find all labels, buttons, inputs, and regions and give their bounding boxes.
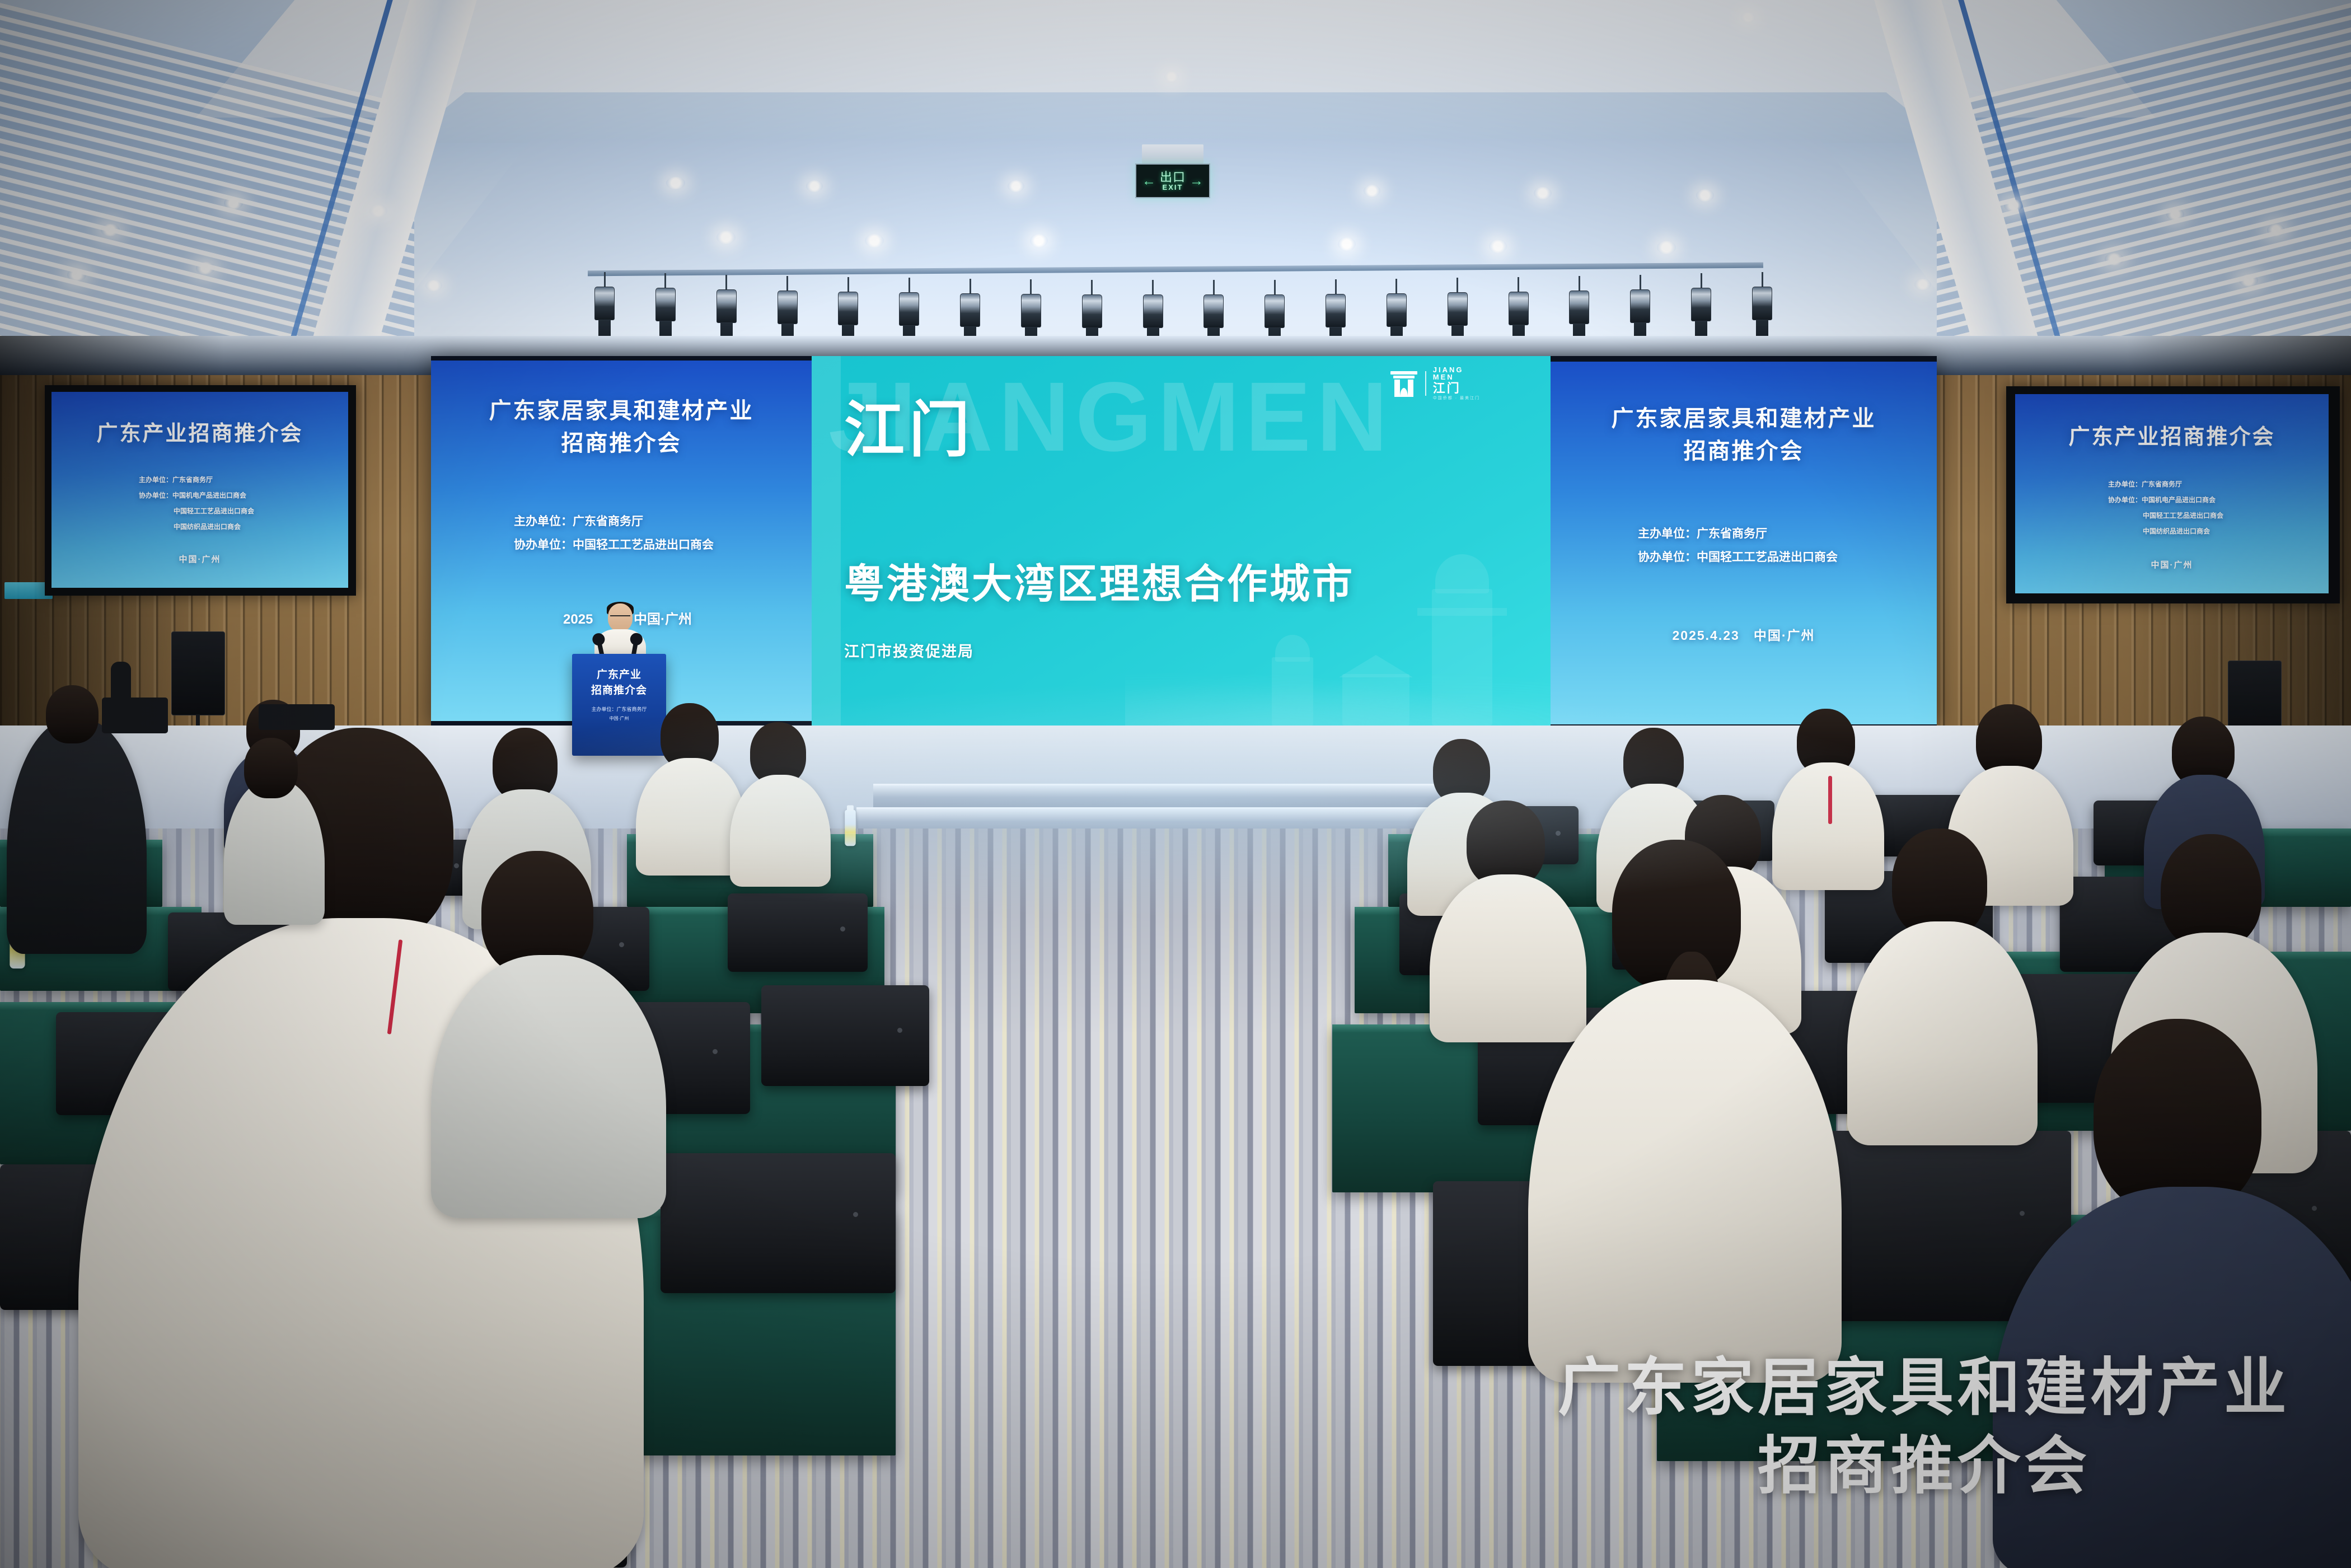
chair — [661, 1153, 896, 1293]
ceiling: ← 出口 EXIT → — [0, 0, 2351, 358]
far-right-location: 中国·广州 — [2015, 559, 2329, 570]
downlight — [666, 177, 685, 189]
downlight — [1741, 12, 1755, 22]
jiangmen-calligraphy: 江门 — [844, 400, 974, 460]
downlight — [1164, 72, 1179, 82]
center-panel-side-bar — [812, 356, 841, 726]
exit-sign-mount — [1142, 144, 1203, 163]
downlight — [67, 269, 86, 281]
downlight — [1534, 187, 1552, 199]
downlight — [1914, 279, 1931, 290]
watermark-caption: 广东家居家具和建材产业 招商推介会 — [1558, 1349, 2291, 1505]
watermark-line1: 广东家居家具和建材产业 — [1558, 1349, 2291, 1427]
main-left-coorg-label: 协办单位：中国轻工工艺品进出口商会 — [514, 536, 714, 555]
podium-line2: 招商推介会 — [572, 682, 666, 697]
podium: 广东产业 招商推介会 主办单位：广东省商务厅 中国·广州 — [572, 654, 666, 756]
far-right-screen-title: 广东产业招商推介会 — [2015, 424, 2329, 450]
far-left-coorg-3: 中国纺织品进出口商会 — [174, 522, 241, 532]
logo-divider — [1425, 371, 1426, 396]
main-right-date-location: 2025.4.23 中国·广州 — [1551, 625, 1937, 644]
main-left-date: 2025 — [563, 609, 593, 630]
ceiling-recess-band — [403, 92, 1948, 143]
main-right-coorg-label: 协办单位：中国轻工工艺品进出口商会 — [1638, 549, 1838, 567]
downlight — [1008, 180, 1024, 192]
smartphone — [259, 704, 335, 730]
foliage-silhouette — [1125, 658, 1551, 726]
exit-sign-english: EXIT — [1163, 184, 1183, 191]
main-left-host-label: 主办单位：广东省商务厅 — [514, 513, 643, 531]
shotgun-microphone — [111, 662, 131, 706]
watermark-line2: 招商推介会 — [1558, 1427, 2291, 1505]
downlight — [2004, 199, 2023, 212]
exit-sign: ← 出口 EXIT → — [1135, 163, 1210, 198]
downlight — [865, 234, 884, 247]
downlight — [806, 180, 823, 192]
lanyard — [1828, 776, 1832, 824]
logo-en-line2: MEN — [1433, 373, 1480, 381]
downlight — [369, 205, 387, 217]
far-left-screen-title: 广东产业招商推介会 — [51, 421, 348, 447]
podium-line4: 中国·广州 — [572, 715, 666, 722]
downlight — [1338, 237, 1356, 251]
main-left-title-line2: 招商推介会 — [431, 430, 812, 457]
arrow-right-icon: → — [1189, 174, 1203, 188]
center-panel-organization: 江门市投资促进局 — [844, 639, 974, 661]
conference-hall-photo: ← 出口 EXIT → 广东产业招商推介会 主办单位：广东省商务厅 协办单位：中… — [0, 0, 2351, 1568]
jiangmen-logo: JIANG MEN 江门 中国侨都 · 最美江门 — [1389, 366, 1480, 400]
far-left-host-label: 主办单位：广东省商务厅 — [139, 475, 213, 485]
main-center-panel[interactable]: JIANGMEN — [812, 356, 1551, 726]
chair — [761, 985, 929, 1086]
downlight — [716, 231, 736, 244]
far-right-coorg-3: 中国纺织品进出口商会 — [2143, 526, 2210, 537]
far-left-location: 中国·广州 — [51, 553, 348, 565]
downlight — [1489, 240, 1507, 253]
main-left-title-line1: 广东家居家具和建材产业 — [431, 397, 812, 425]
far-right-host-label: 主办单位：广东省商务厅 — [2108, 479, 2182, 490]
downlight — [2267, 224, 2285, 236]
downlight — [2239, 274, 2258, 287]
downlight — [224, 197, 243, 209]
podium-line3: 主办单位：广东省商务厅 — [572, 705, 666, 713]
downlight — [1030, 234, 1048, 247]
podium-line1: 广东产业 — [572, 666, 666, 681]
stage-step-1 — [873, 784, 1478, 807]
downlight — [101, 224, 120, 236]
main-right-panel[interactable]: 广东家居家具和建材产业 招商推介会 主办单位：广东省商务厅 协办单位：中国轻工工… — [1551, 362, 1937, 724]
exit-sign-chinese: 出口 — [1160, 171, 1186, 184]
downlight — [1364, 185, 1380, 197]
downlight — [2105, 253, 2124, 265]
water-bottle — [845, 810, 856, 846]
downlight — [196, 262, 215, 274]
far-left-led-screen[interactable]: 广东产业招商推介会 主办单位：广东省商务厅 协办单位：中国机电产品进出口商会 中… — [51, 392, 348, 588]
chair — [728, 893, 868, 972]
main-right-title-line1: 广东家居家具和建材产业 — [1551, 405, 1937, 433]
center-panel-headline: 粤港澳大湾区理想合作城市 — [844, 564, 1355, 605]
downlight — [2166, 208, 2184, 221]
logo-cn: 江门 — [1433, 382, 1480, 395]
downlight — [1696, 189, 1714, 202]
diaolou-tower-illustration — [1125, 490, 1551, 726]
speaker-glasses — [610, 615, 630, 620]
far-left-coorg-2: 中国轻工工艺品进出口商会 — [174, 506, 254, 517]
far-right-coorg-2: 中国轻工工艺品进出口商会 — [2143, 511, 2223, 521]
arrow-left-icon: ← — [1142, 174, 1156, 188]
far-left-coorg-label: 协办单位：中国机电产品进出口商会 — [139, 490, 246, 501]
far-right-led-screen[interactable]: 广东产业招商推介会 主办单位：广东省商务厅 协办单位：中国机电产品进出口商会 中… — [2015, 394, 2329, 593]
wall-speaker-left — [171, 631, 225, 715]
downlight — [425, 280, 442, 291]
gate-arch-icon — [1389, 370, 1418, 397]
logo-tagline: 中国侨都 · 最美江门 — [1433, 396, 1480, 400]
main-right-title-line2: 招商推介会 — [1551, 438, 1937, 465]
downlight — [1657, 241, 1676, 254]
main-right-host-label: 主办单位：广东省商务厅 — [1638, 525, 1767, 544]
far-right-coorg-label: 协办单位：中国机电产品进出口商会 — [2108, 495, 2216, 505]
